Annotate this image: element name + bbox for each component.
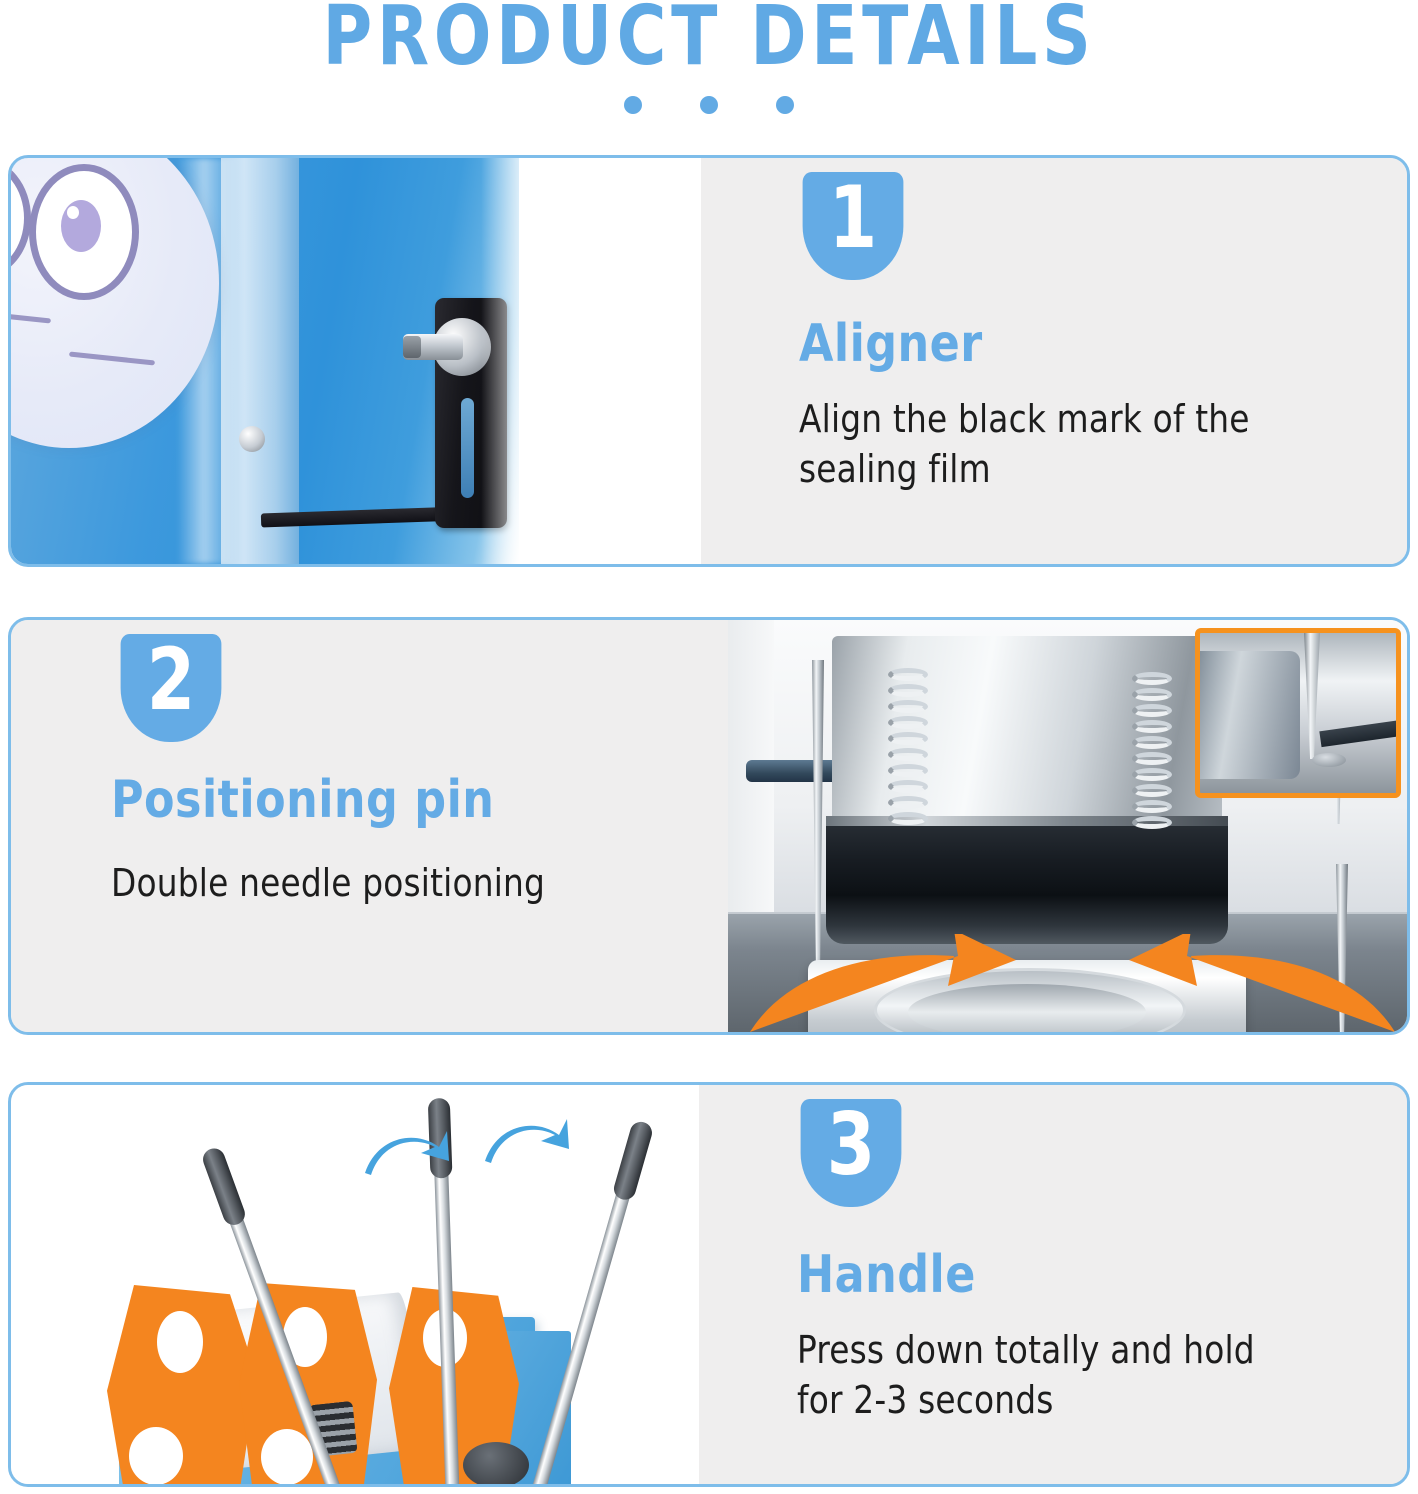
step-description-1: Align the black mark of the sealing film (799, 394, 1298, 494)
label-mark-line-1 (11, 310, 51, 324)
step-title-1: Aligner (799, 314, 983, 374)
inset-screw-hole (1312, 753, 1346, 767)
motion-arrow-icon-1 (361, 1127, 451, 1191)
bracket-hole-1 (157, 1311, 203, 1373)
handle-grip-3 (611, 1119, 654, 1202)
step-2-text-panel: 2 Positioning pin Double needle position… (11, 620, 728, 1032)
handle-pivot (463, 1442, 529, 1484)
cross-rod (746, 760, 844, 782)
handle-motion-photo (11, 1085, 699, 1484)
positioning-pin-photo (728, 620, 1407, 1032)
label-eye-left-icon (11, 158, 31, 278)
step-number-badge-1: 1 (803, 172, 904, 280)
step-description-3: Press down totally and hold for 2-3 seco… (797, 1325, 1306, 1425)
label-eye-glint-right (67, 206, 79, 219)
step-title-3: Handle (797, 1245, 976, 1305)
press-black-ring (826, 816, 1228, 944)
title-dot-2 (700, 96, 718, 114)
step-1-text-panel: 1 Aligner Align the black mark of the se… (701, 158, 1407, 564)
aligner-bracket-photo (11, 158, 701, 564)
label-pupil-right (61, 200, 101, 252)
step-card-3: 3 Handle Press down totally and hold for… (8, 1082, 1410, 1487)
panel-screw-head (239, 426, 265, 452)
step-card-2: 2 Positioning pin Double needle position… (8, 617, 1410, 1035)
rotation-arrow-right-icon (1105, 934, 1405, 1032)
page-header: PRODUCT DETAILS (0, 0, 1418, 140)
product-details-page: PRODUCT DETAILS (0, 0, 1418, 1494)
step-card-1: 1 Aligner Align the black mark of the se… (8, 155, 1410, 567)
step-number-badge-2: 2 (121, 634, 222, 742)
aligner-thumb-screw (403, 318, 491, 376)
motion-arrow-icon-2 (481, 1115, 571, 1179)
page-title: PRODUCT DETAILS (57, 0, 1362, 80)
title-dot-3 (776, 96, 794, 114)
aligner-slot (461, 398, 474, 498)
bracket-hole-2 (129, 1427, 183, 1484)
title-dot-1 (624, 96, 642, 114)
needle-closeup-inset (1195, 628, 1401, 798)
handle-grip-1 (200, 1145, 248, 1228)
label-mark-line-2 (69, 352, 155, 366)
inset-dark-bar (1319, 719, 1401, 747)
step-number-badge-3: 3 (801, 1099, 902, 1207)
spring-left (888, 668, 928, 830)
photo-white-fade (481, 158, 541, 564)
thumb-screw-tip (403, 336, 421, 358)
step-description-2: Double needle positioning (111, 858, 649, 908)
inset-needle-icon (1304, 633, 1320, 759)
rotation-arrow-left-icon (740, 934, 1040, 1032)
title-dots-decoration (0, 96, 1418, 114)
spring-right (1132, 672, 1172, 834)
step-3-text-panel: 3 Handle Press down totally and hold for… (699, 1085, 1407, 1484)
step-title-2: Positioning pin (111, 770, 494, 830)
inset-cylinder (1195, 651, 1300, 779)
